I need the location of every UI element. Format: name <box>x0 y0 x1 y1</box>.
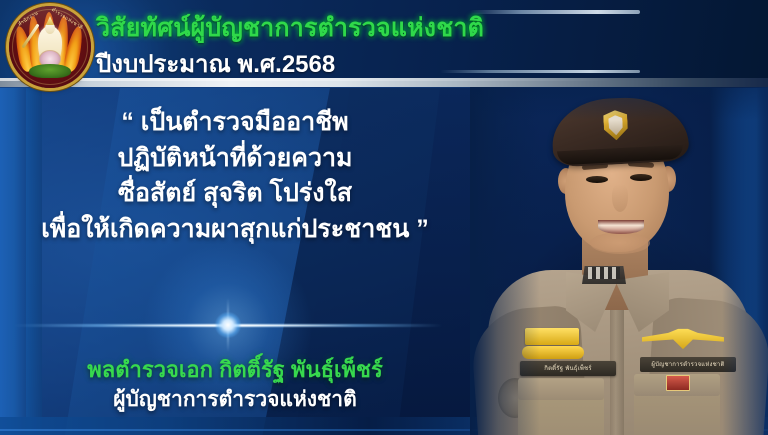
page-title: วิสัยทัศน์ผู้บัญชาการตำรวจแห่งชาติ <box>96 8 484 48</box>
royal-thai-police-emblem-icon: สำนักงาน ตำรวจแห่งชาติ <box>9 6 91 88</box>
eye-left <box>586 176 608 183</box>
quote-line-3: ซื่อสัตย์ สุจริต โปร่งใส <box>0 176 470 212</box>
shoulder-board-pattern <box>588 267 620 279</box>
portrait-fade-right <box>722 60 768 435</box>
ribbon-bar-icon <box>666 375 690 391</box>
commissioner-name: พลตำรวจเอก กิตติ์รัฐ พันธุ์เพ็ชร์ <box>0 352 470 387</box>
commissioner-position: ผู้บัญชาการตำรวจแห่งชาติ <box>0 383 470 416</box>
nose <box>612 184 628 212</box>
light-flare-core <box>215 312 241 338</box>
mouth-smile <box>598 220 644 234</box>
quote-line-4: เพื่อให้เกิดความผาสุกแก่ประชาชน ” <box>0 212 470 248</box>
quote-line-1: “ เป็นตำรวจมืออาชีพ <box>0 105 470 141</box>
uniform-pocket-right <box>634 386 720 435</box>
commissioner-portrait: กิตติ์รัฐ พันธุ์เพ็ชร์ ผู้บัญชาการตำรวจแ… <box>470 60 768 435</box>
quote-line-2: ปฏิบัติหน้าที่ด้วยความ <box>0 141 470 177</box>
header-divider <box>0 78 768 87</box>
eye-right <box>630 174 652 181</box>
vision-poster: กิตติ์รัฐ พันธุ์เพ็ชร์ ผู้บัญชาการตำรวจแ… <box>0 0 768 435</box>
header-chrome-streak-bottom <box>440 70 640 73</box>
poster-header: วิสัยทัศน์ผู้บัญชาการตำรวจแห่งชาติ ปีงบป… <box>0 0 768 84</box>
chin-highlight <box>590 232 650 254</box>
vision-quote: “ เป็นตำรวจมืออาชีพ ปฏิบัติหน้าที่ด้วยคว… <box>0 105 470 247</box>
header-chrome-streak-top <box>470 10 640 14</box>
